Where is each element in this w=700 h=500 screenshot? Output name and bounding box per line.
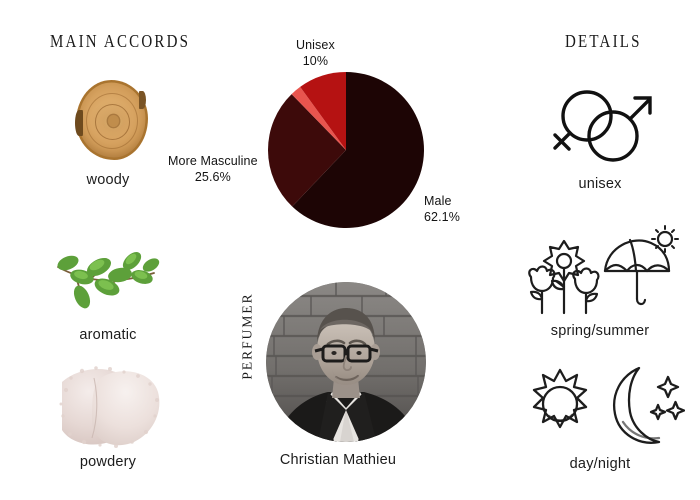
cosmetic-powder-icon <box>28 360 188 450</box>
pie-label-unisex-name: Unisex <box>296 38 335 52</box>
accord-label: aromatic <box>28 327 188 343</box>
detail-item-unisex[interactable]: unisex <box>515 78 685 192</box>
details-heading: DETAILS <box>565 33 642 53</box>
pie-label-more-masculine: More Masculine 25.6% <box>168 153 258 185</box>
detail-item-spring-summer[interactable]: spring/summer <box>515 225 685 339</box>
pie-label-male-value: 62.1% <box>424 209 460 225</box>
perfume-summary-page: MAIN ACCORDS DETAILS woody <box>0 0 700 500</box>
flowers-parasol-sun-icon <box>515 225 685 321</box>
detail-item-day-night[interactable]: day/night <box>515 358 685 472</box>
pie-label-male-name: Male <box>424 194 452 208</box>
pie-label-male: Male 62.1% <box>424 193 460 225</box>
detail-label: unisex <box>515 176 685 192</box>
detail-label: spring/summer <box>515 323 685 339</box>
venus-mars-combined-icon <box>515 78 685 174</box>
pie-label-unisex-value: 10% <box>296 53 335 69</box>
perfumer-kicker-label: PERFUMER <box>240 292 256 379</box>
detail-label: day/night <box>515 456 685 472</box>
sun-moon-icon <box>515 358 685 454</box>
perfumer-name: Christian Mathieu <box>228 452 448 468</box>
pie-label-more-masculine-name: More Masculine <box>168 154 258 168</box>
accord-label: powdery <box>28 454 188 470</box>
perfumer-section: PERFUMER <box>228 282 448 487</box>
pie-label-unisex: Unisex 10% <box>296 37 335 69</box>
gender-pie-chart: Unisex 10% More Masculine 25.6% Male 62.… <box>160 25 500 255</box>
accord-item-powdery[interactable]: powdery <box>28 360 188 470</box>
pie-label-more-masculine-value: 25.6% <box>168 169 258 185</box>
perfumer-avatar[interactable] <box>266 282 426 442</box>
pie-slice-group <box>268 72 424 228</box>
perfumer-portrait-image <box>266 282 426 442</box>
